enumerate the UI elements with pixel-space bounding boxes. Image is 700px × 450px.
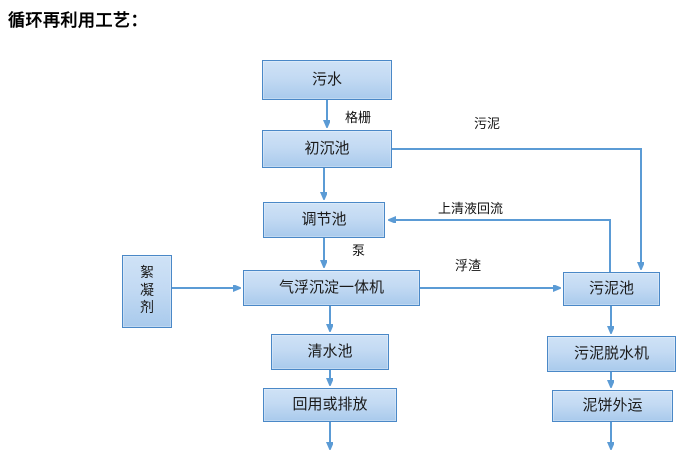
node-sludge-tank[interactable]: 污泥池 [563, 272, 660, 306]
connector-sludge-to-sludge-tank [392, 149, 641, 268]
node-regulating-tank[interactable]: 调节池 [263, 202, 385, 238]
node-mud-cake-transport[interactable]: 泥饼外运 [552, 390, 673, 422]
edge-label-supernatant-reflux: 上清液回流 [438, 198, 503, 217]
node-sludge-dewatering-machine[interactable]: 污泥脱水机 [547, 336, 676, 372]
edge-label-pump: 泵 [352, 240, 365, 259]
node-clean-water-tank[interactable]: 清水池 [271, 334, 389, 370]
node-reuse-or-discharge[interactable]: 回用或排放 [263, 388, 397, 422]
node-air-flotation-sedimentation-machine[interactable]: 气浮沉淀一体机 [243, 270, 420, 306]
edge-label-sludge: 污泥 [474, 113, 500, 132]
edge-label-scum: 浮渣 [455, 255, 481, 274]
node-wastewater[interactable]: 污水 [262, 60, 392, 100]
connector-supernatant-reflux [390, 220, 610, 272]
node-primary-sedimentation-tank[interactable]: 初沉池 [262, 130, 392, 168]
edge-label-grating: 格栅 [345, 107, 371, 126]
node-flocculant[interactable]: 絮 凝 剂 [122, 255, 172, 328]
